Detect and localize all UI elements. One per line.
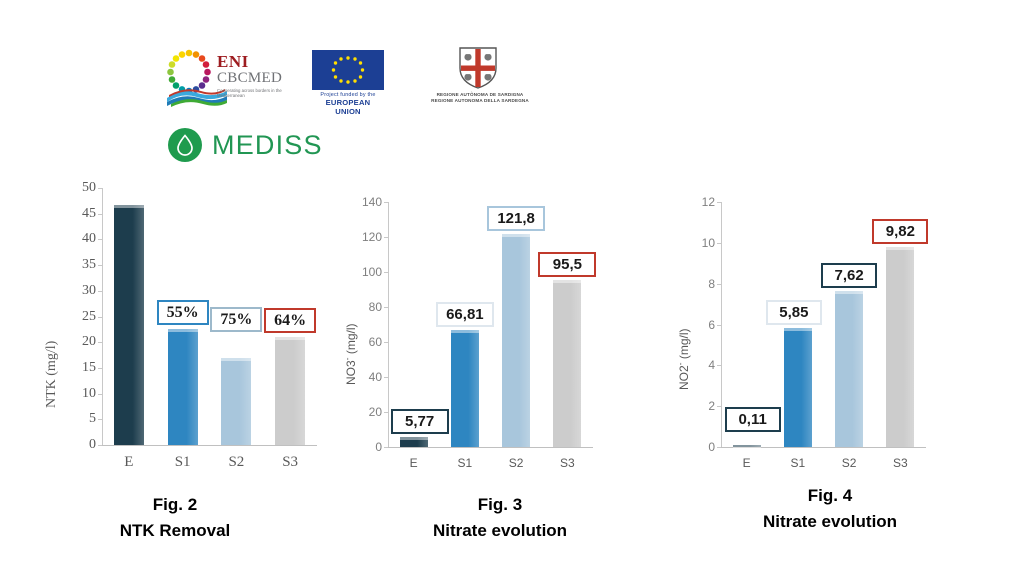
eni-subname: CBCMED bbox=[217, 70, 285, 86]
bar-highlight bbox=[221, 358, 251, 361]
figure-4-number: Fig. 4 bbox=[680, 483, 980, 509]
eni-tagline: Cooperating across borders in the Medite… bbox=[217, 88, 285, 99]
figure-3-caption: Fig. 3 Nitrate evolution bbox=[350, 492, 650, 544]
y-tick-label: 60 bbox=[342, 337, 382, 347]
value-label-s1: 66,81 bbox=[436, 302, 494, 327]
y-tick-label: 25 bbox=[56, 311, 96, 323]
chart3-y-axis-title: NO2- (mg/l) bbox=[675, 328, 691, 390]
y-tick-label: 4 bbox=[675, 360, 715, 370]
water-drop-icon bbox=[176, 134, 194, 156]
european-union-logo: Project funded by the EUROPEAN UNION bbox=[312, 50, 384, 108]
figure-2-caption: Fig. 2 NTK Removal bbox=[30, 492, 320, 544]
y-tick-label: 35 bbox=[56, 259, 96, 271]
bar-e bbox=[733, 445, 761, 447]
y-axis-line bbox=[388, 202, 389, 447]
bar-s1 bbox=[168, 329, 198, 445]
y-tick-label: 140 bbox=[342, 197, 382, 207]
y-tick-label: 0 bbox=[342, 442, 382, 452]
y-tick-label: 100 bbox=[342, 267, 382, 277]
y-tick-label: 0 bbox=[675, 442, 715, 452]
value-label-s2: 7,62 bbox=[821, 263, 877, 288]
figure-4-subtitle: Nitrate evolution bbox=[680, 509, 980, 535]
y-axis-line bbox=[102, 188, 103, 445]
figure-4-caption: Fig. 4 Nitrate evolution bbox=[680, 483, 980, 535]
eni-cbcmed-logo: ENI CBCMED Cooperating across borders in… bbox=[165, 48, 280, 108]
bar-highlight bbox=[886, 247, 914, 250]
value-label-s2: 121,8 bbox=[487, 206, 545, 231]
y-tick-label: 20 bbox=[56, 336, 96, 348]
bar-highlight bbox=[275, 337, 305, 340]
bar-highlight bbox=[451, 330, 479, 333]
bar-highlight bbox=[733, 445, 761, 448]
y-tick-label: 40 bbox=[56, 233, 96, 245]
value-label-s3: 9,82 bbox=[872, 219, 928, 244]
value-label-s3: 64% bbox=[264, 308, 316, 333]
eu-caption-line2: EUROPEAN UNION bbox=[312, 98, 384, 116]
figure-2-subtitle: NTK Removal bbox=[30, 518, 320, 544]
y-tick-label: 8 bbox=[675, 279, 715, 289]
value-label-e: 0,11 bbox=[725, 407, 781, 432]
four-moors-shield-icon bbox=[454, 46, 502, 90]
y-tick-label: 50 bbox=[56, 182, 96, 194]
x-label-s3: S3 bbox=[870, 456, 930, 470]
bar-s2 bbox=[835, 291, 863, 447]
y-tick-label: 12 bbox=[675, 197, 715, 207]
bar-highlight bbox=[553, 280, 581, 283]
y-tick-label: 120 bbox=[342, 232, 382, 242]
bar-highlight bbox=[835, 291, 863, 294]
chart-nitrate-no2: NO2- (mg/l) 024681012 ES1S2S3 0,115,857,… bbox=[663, 180, 1008, 510]
x-label-s2: S2 bbox=[206, 454, 266, 471]
bar-s3 bbox=[553, 280, 581, 447]
bar-e bbox=[114, 205, 144, 445]
y-tick-label: 15 bbox=[56, 362, 96, 374]
chart-ntk-removal: NTK (mg/l) 05101520253035404550 ES1S2S3 … bbox=[30, 180, 350, 510]
y-tick-label: 10 bbox=[675, 238, 715, 248]
y-tick-label: 20 bbox=[342, 407, 382, 417]
mediss-wordmark: MEDISS bbox=[212, 128, 323, 162]
sardegna-caption: REGIONE AUTÒNOMA DE SARDIGNA REGIONE AUT… bbox=[420, 92, 540, 105]
x-label-s1: S1 bbox=[153, 454, 213, 471]
bar-s2 bbox=[221, 358, 251, 445]
bar-s1 bbox=[784, 328, 812, 447]
bar-highlight bbox=[400, 437, 428, 440]
figure-3-subtitle: Nitrate evolution bbox=[350, 518, 650, 544]
y-tick-label: 30 bbox=[56, 285, 96, 297]
value-label-s1: 5,85 bbox=[766, 300, 822, 325]
value-label-s3: 95,5 bbox=[538, 252, 596, 277]
logo-bar: ENI CBCMED Cooperating across borders in… bbox=[0, 0, 1024, 180]
mediss-logo: MEDISS bbox=[168, 128, 318, 166]
bar-highlight bbox=[502, 234, 530, 237]
bar-s1 bbox=[451, 330, 479, 447]
value-label-s2: 75% bbox=[210, 307, 262, 332]
bar-s3 bbox=[275, 337, 305, 445]
y-tick-label: 0 bbox=[56, 439, 96, 451]
y-axis-line bbox=[721, 202, 722, 447]
figure-3-number: Fig. 3 bbox=[350, 492, 650, 518]
x-label-e: E bbox=[99, 454, 159, 471]
value-label-e: 5,77 bbox=[391, 409, 449, 434]
y-tick-label: 6 bbox=[675, 320, 715, 330]
figure-2-number: Fig. 2 bbox=[30, 492, 320, 518]
bar-s3 bbox=[886, 247, 914, 447]
bar-highlight bbox=[784, 328, 812, 331]
chart-nitrate-no3: NO3- (mg/l) 020406080100120140 ES1S2S3 5… bbox=[330, 180, 665, 510]
y-tick-label: 10 bbox=[56, 388, 96, 400]
y-tick-label: 5 bbox=[56, 413, 96, 425]
y-tick-label: 2 bbox=[675, 401, 715, 411]
x-axis-line bbox=[388, 447, 593, 448]
x-label-s3: S3 bbox=[260, 454, 320, 471]
x-axis-line bbox=[102, 445, 317, 446]
eni-name: ENI bbox=[217, 54, 285, 70]
bar-highlight bbox=[168, 329, 198, 332]
regione-sardegna-logo: REGIONE AUTÒNOMA DE SARDIGNA REGIONE AUT… bbox=[420, 46, 540, 108]
y-tick-label: 45 bbox=[56, 208, 96, 220]
y-tick-label: 40 bbox=[342, 372, 382, 382]
sardegna-caption-line2: REGIONE AUTONOMA DELLA SARDEGNA bbox=[420, 98, 540, 104]
bar-s2 bbox=[502, 234, 530, 447]
value-label-s1: 55% bbox=[157, 300, 209, 325]
x-label-s3: S3 bbox=[537, 456, 597, 470]
bar-highlight bbox=[114, 205, 144, 208]
bar-e bbox=[400, 437, 428, 447]
european-union-flag-icon bbox=[312, 50, 384, 90]
y-tick-label: 80 bbox=[342, 302, 382, 312]
